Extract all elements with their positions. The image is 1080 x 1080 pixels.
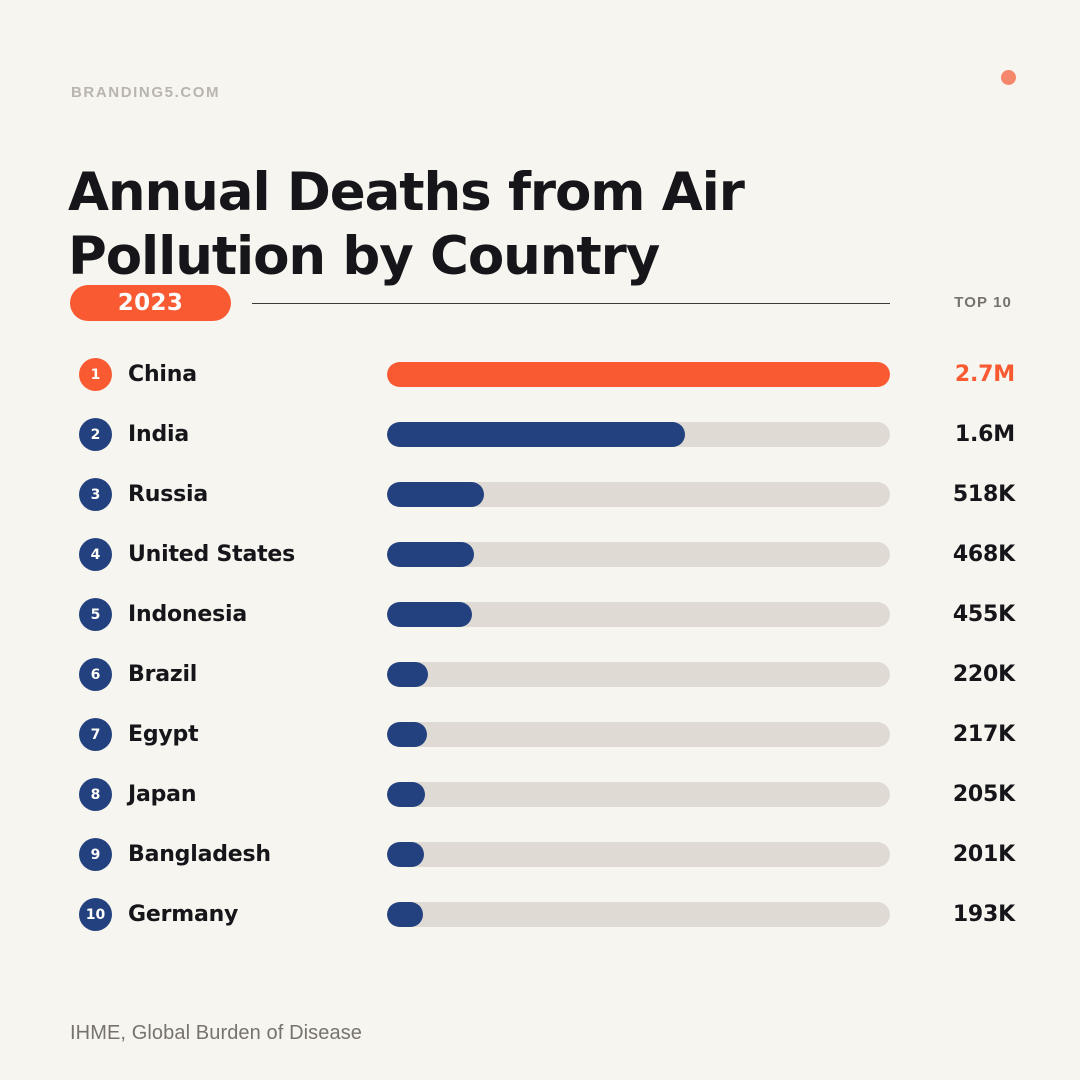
brand-watermark: BRANDING5.COM xyxy=(71,84,220,101)
value-label: 201K xyxy=(905,836,1015,872)
ranking-row: 1China2.7M xyxy=(0,344,1080,404)
header-divider xyxy=(252,303,890,304)
infographic-canvas: BRANDING5.COM Annual Deaths from Air Pol… xyxy=(0,0,1080,1080)
country-label: Russia xyxy=(128,476,208,512)
ranking-row: 7Egypt217K xyxy=(0,704,1080,764)
country-label: Bangladesh xyxy=(128,836,271,872)
value-label: 1.6M xyxy=(905,416,1015,452)
page-title: Annual Deaths from Air Pollution by Coun… xyxy=(68,161,828,289)
bar-track xyxy=(387,842,890,867)
ranking-row: 5Indonesia455K xyxy=(0,584,1080,644)
value-label: 217K xyxy=(905,716,1015,752)
value-label: 468K xyxy=(905,536,1015,572)
value-label: 220K xyxy=(905,656,1015,692)
ranking-list: 1China2.7M2India1.6M3Russia518K4United S… xyxy=(0,344,1080,944)
bar-fill xyxy=(387,602,472,627)
decorative-dot-icon xyxy=(1001,70,1016,85)
rank-badge: 1 xyxy=(79,358,112,391)
country-label: India xyxy=(128,416,189,452)
bar-fill xyxy=(387,782,425,807)
country-label: Brazil xyxy=(128,656,197,692)
bar-track xyxy=(387,482,890,507)
country-label: Japan xyxy=(128,776,196,812)
rank-badge: 4 xyxy=(79,538,112,571)
value-label: 518K xyxy=(905,476,1015,512)
country-label: United States xyxy=(128,536,295,572)
rank-badge: 2 xyxy=(79,418,112,451)
bar-track xyxy=(387,422,890,447)
value-label: 2.7M xyxy=(905,356,1015,392)
bar-fill xyxy=(387,722,427,747)
bar-track xyxy=(387,662,890,687)
bar-track xyxy=(387,542,890,567)
year-badge: 2023 xyxy=(70,285,231,321)
country-label: Egypt xyxy=(128,716,198,752)
rank-badge: 7 xyxy=(79,718,112,751)
bar-track xyxy=(387,602,890,627)
bar-track xyxy=(387,902,890,927)
bar-fill xyxy=(387,902,423,927)
bar-track xyxy=(387,362,890,387)
value-label: 205K xyxy=(905,776,1015,812)
value-label: 455K xyxy=(905,596,1015,632)
bar-track xyxy=(387,722,890,747)
rank-badge: 6 xyxy=(79,658,112,691)
source-caption: IHME, Global Burden of Disease xyxy=(70,1022,362,1045)
bar-fill xyxy=(387,422,685,447)
bar-fill xyxy=(387,842,424,867)
bar-fill xyxy=(387,362,890,387)
country-label: Germany xyxy=(128,896,238,932)
top-count-label: TOP 10 xyxy=(954,294,1012,311)
ranking-row: 8Japan205K xyxy=(0,764,1080,824)
ranking-row: 9Bangladesh201K xyxy=(0,824,1080,884)
ranking-row: 6Brazil220K xyxy=(0,644,1080,704)
country-label: Indonesia xyxy=(128,596,247,632)
rank-badge: 3 xyxy=(79,478,112,511)
rank-badge: 10 xyxy=(79,898,112,931)
bar-fill xyxy=(387,662,428,687)
subtitle-row: 2023 TOP 10 xyxy=(70,285,1012,321)
rank-badge: 9 xyxy=(79,838,112,871)
rank-badge: 8 xyxy=(79,778,112,811)
country-label: China xyxy=(128,356,197,392)
bar-track xyxy=(387,782,890,807)
ranking-row: 3Russia518K xyxy=(0,464,1080,524)
bar-fill xyxy=(387,482,484,507)
rank-badge: 5 xyxy=(79,598,112,631)
bar-fill xyxy=(387,542,474,567)
ranking-row: 4United States468K xyxy=(0,524,1080,584)
value-label: 193K xyxy=(905,896,1015,932)
ranking-row: 10Germany193K xyxy=(0,884,1080,944)
ranking-row: 2India1.6M xyxy=(0,404,1080,464)
